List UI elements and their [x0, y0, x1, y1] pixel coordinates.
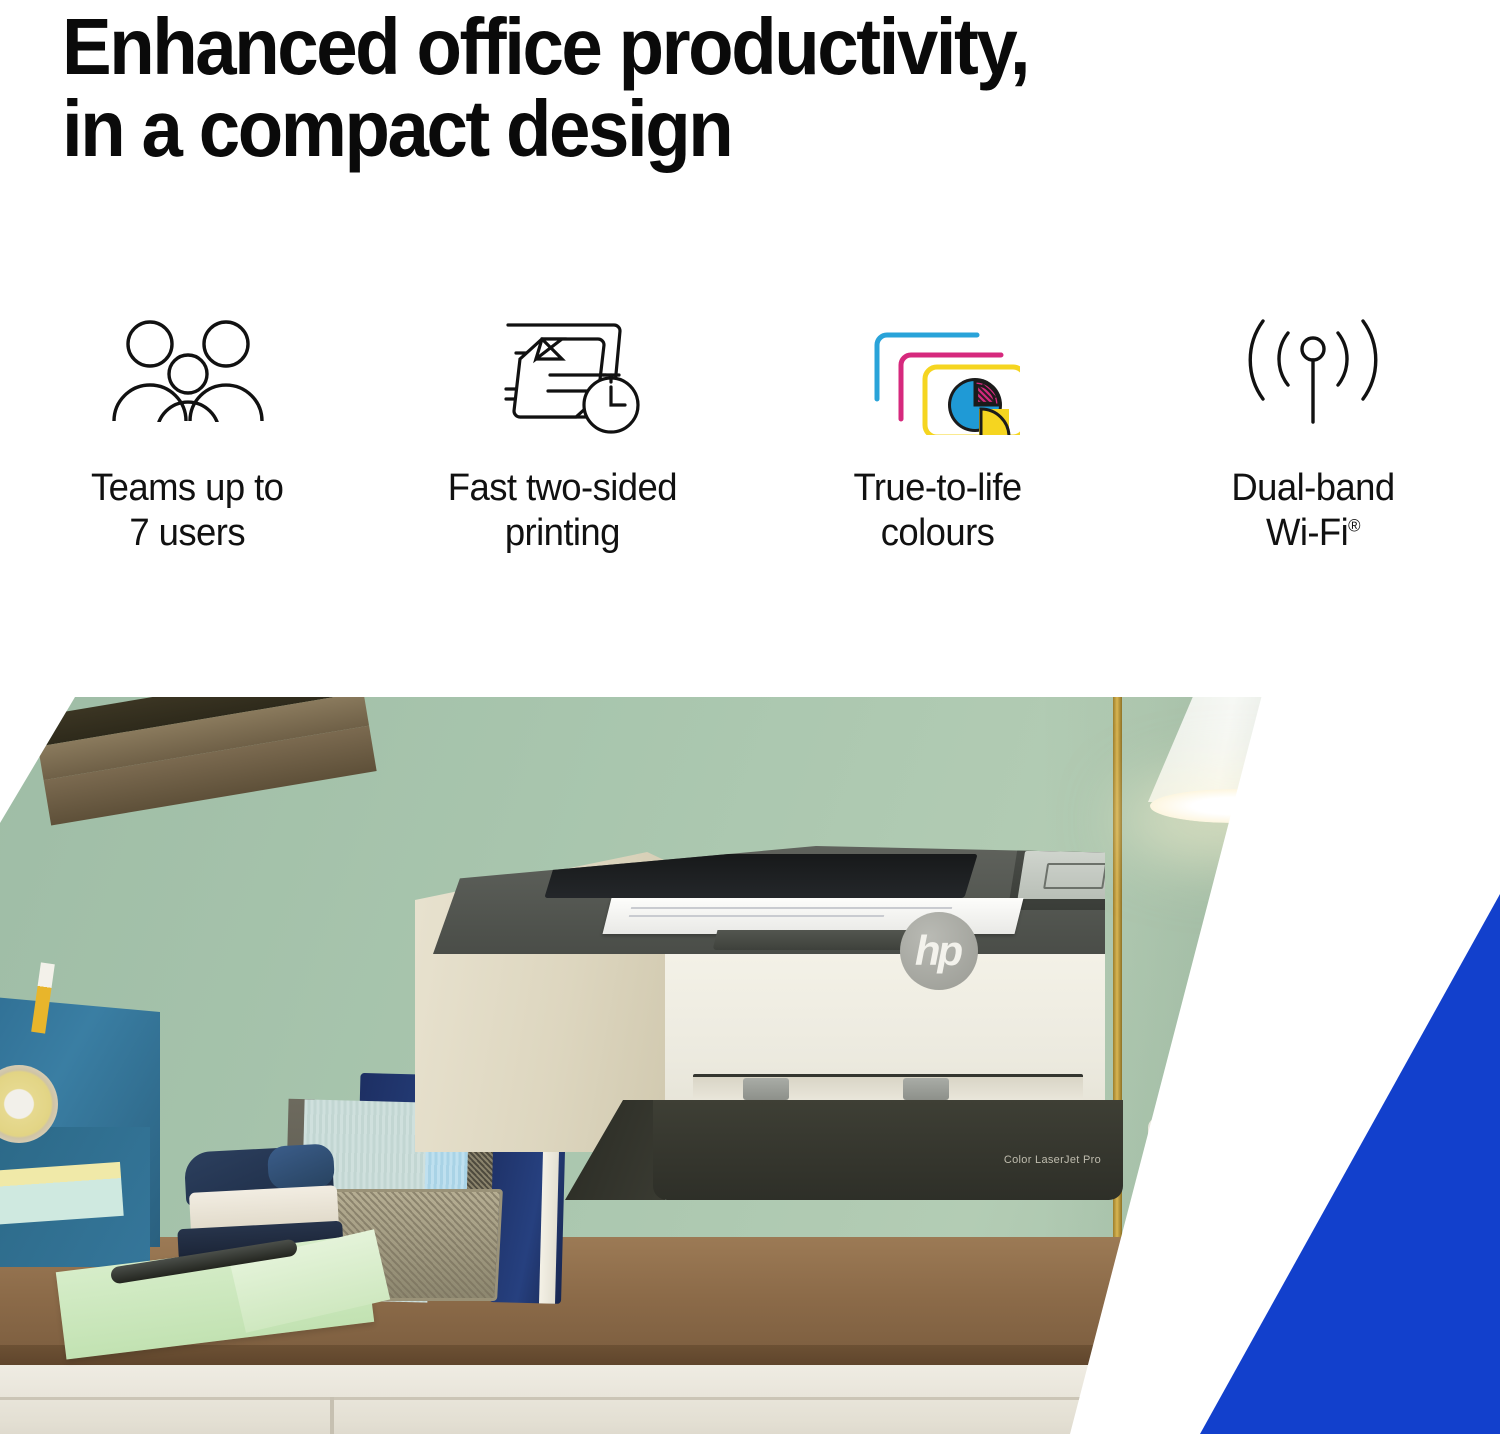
feature-item-colours: True-to-life colours [750, 300, 1125, 556]
feature-label-line-2: colours [881, 512, 995, 554]
duplex-printing-stopwatch-icon [480, 300, 645, 450]
feature-label-teams: Teams up to 7 users [91, 466, 283, 556]
people-group-icon [103, 300, 273, 450]
printer-base-tray: Color LaserJet Pro [653, 1100, 1123, 1200]
headline-line-2: in a compact design [62, 88, 1364, 170]
headline-line-1: Enhanced office productivity, [62, 2, 1028, 91]
feature-label-line-1: Dual-band [1231, 467, 1394, 509]
printer-paper-guide-right[interactable] [903, 1078, 949, 1100]
feature-label-duplex: Fast two-sided printing [448, 466, 677, 556]
feature-label-line-2: printing [505, 512, 620, 554]
feature-label-colours: True-to-life colours [853, 466, 1021, 556]
cmyk-color-pie-icon [855, 300, 1020, 450]
feature-label-wifi: Dual-band Wi-Fi® [1231, 466, 1394, 556]
feature-label-line-1: Fast two-sided [448, 467, 677, 509]
feature-label-line-2: Wi-Fi [1265, 512, 1347, 554]
printer-paper-guide-left[interactable] [743, 1078, 789, 1100]
stapler-cap [267, 1143, 335, 1190]
feature-item-duplex: Fast two-sided printing [375, 300, 750, 556]
feature-label-line-2: 7 users [130, 512, 246, 554]
feature-list: Teams up to 7 users [0, 300, 1500, 600]
hp-logo: hp [900, 912, 978, 990]
printer: hp Color LaserJet Pro [415, 852, 1115, 1172]
sticky-notes [0, 1162, 124, 1226]
wifi-antenna-icon [1233, 300, 1393, 450]
feature-item-teams: Teams up to 7 users [0, 300, 375, 556]
product-photo: hp Color LaserJet Pro [0, 697, 1500, 1434]
cabinet-gap [330, 1397, 334, 1434]
feature-label-line-1: True-to-life [853, 467, 1021, 509]
printer-model-label: Color LaserJet Pro [1004, 1154, 1101, 1166]
feature-label-line-1: Teams up to [91, 467, 283, 509]
printer-lcd-screen[interactable] [1018, 851, 1130, 899]
feature-item-wifi: Dual-band Wi-Fi® [1125, 300, 1500, 556]
registered-trademark-symbol: ® [1348, 515, 1360, 535]
page-title: Enhanced office productivity, in a compa… [62, 6, 1364, 171]
